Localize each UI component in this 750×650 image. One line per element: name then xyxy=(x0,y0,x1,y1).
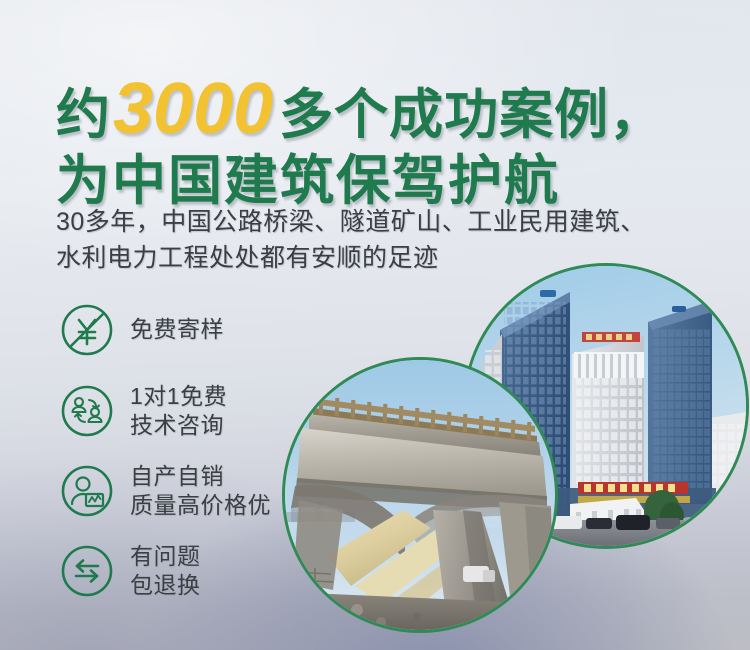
free-sample-icon xyxy=(58,301,116,359)
subtitle-line-1: 30多年，中国公路桥梁、隧道矿山、工业民用建筑、 xyxy=(56,204,646,240)
headline-suffix: 多个成功案例， xyxy=(279,85,664,145)
bridge-viaduct-photo xyxy=(285,360,555,630)
feature-item-free-sample: 免费寄样 xyxy=(58,298,271,362)
subtitle-line-2: 水利电力工程处处都有安顺的足迹 xyxy=(56,240,646,276)
bridge-illustration xyxy=(285,360,555,630)
headline-number: 3000 xyxy=(111,69,279,149)
feature-line-2: 质量高价格优 xyxy=(130,491,271,520)
feature-item-self-produce: 自产自销 质量高价格优 xyxy=(58,458,271,524)
feature-item-consult: 1对1免费 技术咨询 xyxy=(58,378,271,444)
feature-line-1: 1对1免费 xyxy=(130,382,227,411)
headline: 约3000多个成功案例， 为中国建筑保驾护航 xyxy=(56,72,664,209)
feature-text-free-sample: 免费寄样 xyxy=(130,315,224,344)
subtitle: 30多年，中国公路桥梁、隧道矿山、工业民用建筑、 水利电力工程处处都有安顺的足迹 xyxy=(56,204,646,277)
feature-line-2: 包退换 xyxy=(130,571,201,600)
feature-text-consult: 1对1免费 技术咨询 xyxy=(130,382,227,441)
feature-text-self-produce: 自产自销 质量高价格优 xyxy=(130,462,271,521)
feature-line-1: 自产自销 xyxy=(130,462,271,491)
headline-line-1: 约3000多个成功案例， xyxy=(56,72,664,147)
self-produce-sell-icon xyxy=(58,462,116,520)
feature-line-2: 技术咨询 xyxy=(130,411,227,440)
headline-prefix: 约 xyxy=(56,85,111,145)
one-on-one-consult-icon xyxy=(58,382,116,440)
feature-text-return-exchange: 有问题 包退换 xyxy=(130,542,201,601)
feature-item-return-exchange: 有问题 包退换 xyxy=(58,538,271,604)
feature-list: 免费寄样 xyxy=(58,298,271,604)
feature-line-1: 免费寄样 xyxy=(130,315,224,344)
feature-line-1: 有问题 xyxy=(130,542,201,571)
headline-line-2: 为中国建筑保驾护航 xyxy=(56,153,664,209)
promo-banner: 约3000多个成功案例， 为中国建筑保驾护航 30多年，中国公路桥梁、隧道矿山、… xyxy=(0,0,750,650)
return-exchange-icon xyxy=(58,542,116,600)
